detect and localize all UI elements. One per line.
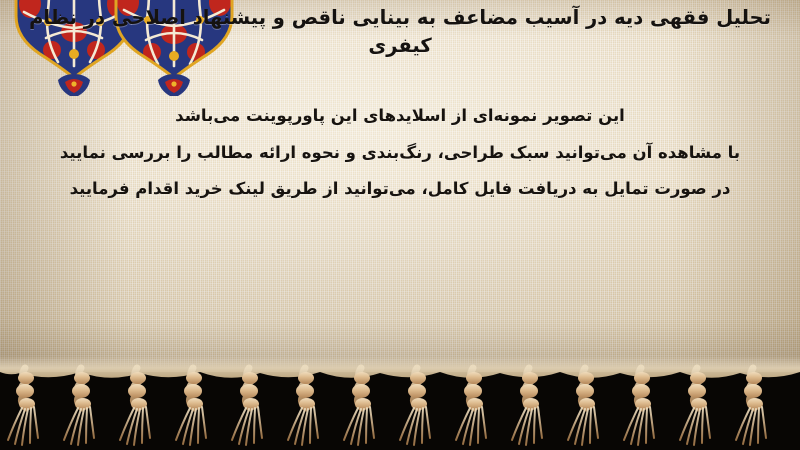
black-backdrop-band — [0, 372, 800, 450]
slide-body-line-3: در صورت تمایل به دریافت فایل کامل، می‌تو… — [0, 181, 800, 198]
slide-body-line-2: با مشاهده آن می‌توانید سبک طراحی، رنگ‌بن… — [0, 145, 800, 162]
slide-body-block: این تصویر نمونه‌ای از اسلایدهای این پاور… — [0, 108, 800, 198]
slide-title: تحلیل فقهی دیه در آسیب مضاعف به بینایی ن… — [16, 4, 784, 59]
slide-canvas: تحلیل فقهی دیه در آسیب مضاعف به بینایی ن… — [0, 0, 800, 450]
slide-body-line-1: این تصویر نمونه‌ای از اسلایدهای این پاور… — [0, 108, 800, 125]
slide-text-layer: تحلیل فقهی دیه در آسیب مضاعف به بینایی ن… — [0, 0, 800, 372]
